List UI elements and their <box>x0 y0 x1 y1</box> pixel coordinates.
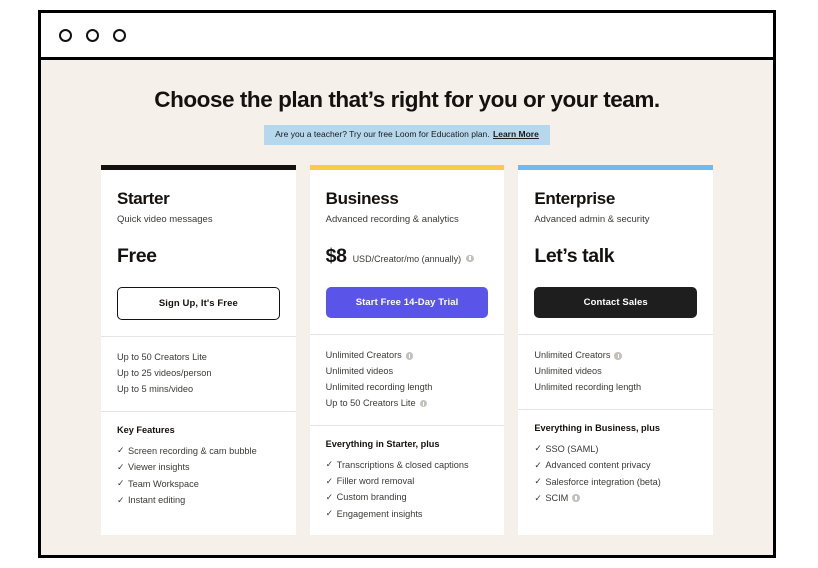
features-heading-starter: Key Features <box>117 425 280 436</box>
check-icon: ✓ <box>117 479 128 488</box>
feature-item: ✓Salesforce integration (beta) <box>534 474 697 490</box>
feature-item-label: SCIM <box>545 490 568 506</box>
plan-limits-starter: Up to 50 Creators LiteUp to 25 videos/pe… <box>101 336 296 410</box>
feature-item-label: Filler word removal <box>337 473 415 489</box>
limit-item: Up to 25 videos/person <box>117 366 280 382</box>
plan-cta-button-business[interactable]: Start Free 14-Day Trial <box>326 287 489 318</box>
feature-item: ✓SSO (SAML) <box>534 441 697 457</box>
plan-header-enterprise: EnterpriseAdvanced admin & securityLet’s… <box>518 170 713 334</box>
feature-item: ✓Custom branding <box>326 489 489 505</box>
feature-item-label: Instant editing <box>128 492 185 508</box>
check-icon: ✓ <box>117 463 128 472</box>
feature-item-label: SSO (SAML) <box>545 441 598 457</box>
feature-item-label: Advanced content privacy <box>545 457 650 473</box>
feature-item: ✓Filler word removal <box>326 473 489 489</box>
window-maximize-dot[interactable] <box>113 29 126 42</box>
limit-item-label: Unlimited videos <box>534 364 601 380</box>
plan-price-starter: Free <box>117 246 157 267</box>
check-icon: ✓ <box>117 496 128 505</box>
check-icon: ✓ <box>534 444 545 453</box>
plan-name-enterprise: Enterprise <box>534 189 697 209</box>
feature-item: ✓Viewer insights <box>117 459 280 475</box>
limit-item: Unlimited videos <box>326 364 489 380</box>
feature-item: ✓Instant editing <box>117 492 280 508</box>
info-icon[interactable] <box>406 352 414 360</box>
plan-header-starter: StarterQuick video messagesFreeSign Up, … <box>101 170 296 336</box>
promo-banner-text: Are you a teacher? Try our free Loom for… <box>275 129 490 139</box>
check-icon: ✓ <box>326 509 337 518</box>
check-icon: ✓ <box>117 446 128 455</box>
feature-item-label: Screen recording & cam bubble <box>128 443 257 459</box>
promo-learn-more-link[interactable]: Learn More <box>493 129 539 139</box>
check-icon: ✓ <box>326 460 337 469</box>
browser-window: Choose the plan that’s right for you or … <box>38 10 776 558</box>
plan-card-enterprise: EnterpriseAdvanced admin & securityLet’s… <box>518 165 713 535</box>
plan-card-starter: StarterQuick video messagesFreeSign Up, … <box>101 165 296 535</box>
plan-price-row-enterprise: Let’s talk <box>534 246 697 270</box>
feature-item-label: Transcriptions & closed captions <box>337 457 469 473</box>
plan-price-business: $8 <box>326 246 347 267</box>
feature-item: ✓Team Workspace <box>117 476 280 492</box>
feature-item-label: Salesforce integration (beta) <box>545 474 660 490</box>
limit-item: Unlimited videos <box>534 364 697 380</box>
feature-item: ✓Engagement insights <box>326 506 489 522</box>
features-heading-enterprise: Everything in Business, plus <box>534 423 697 434</box>
window-close-dot[interactable] <box>59 29 72 42</box>
plan-cta-button-starter[interactable]: Sign Up, It's Free <box>117 287 280 320</box>
window-chrome-bar <box>41 13 773 60</box>
plan-name-starter: Starter <box>117 189 280 209</box>
limit-item: Up to 50 Creators Lite <box>117 350 280 366</box>
limit-item: Unlimited Creators <box>534 348 697 364</box>
limit-item-label: Up to 25 videos/person <box>117 366 212 382</box>
plan-cta-button-enterprise[interactable]: Contact Sales <box>534 287 697 318</box>
feature-item-label: Engagement insights <box>337 506 423 522</box>
check-icon: ✓ <box>534 494 545 503</box>
info-icon[interactable] <box>572 494 580 502</box>
feature-item-label: Team Workspace <box>128 476 199 492</box>
page-title: Choose the plan that’s right for you or … <box>61 86 753 113</box>
plan-card-business: BusinessAdvanced recording & analytics$8… <box>310 165 505 535</box>
limit-item-label: Unlimited videos <box>326 364 393 380</box>
feature-item-label: Custom branding <box>337 489 407 505</box>
plan-features-business: Everything in Starter, plus✓Transcriptio… <box>310 425 505 536</box>
limit-item-label: Up to 5 mins/video <box>117 382 193 398</box>
plan-features-enterprise: Everything in Business, plus✓SSO (SAML)✓… <box>518 409 713 535</box>
promo-banner-container: Are you a teacher? Try our free Loom for… <box>61 125 753 145</box>
pricing-plans-row: StarterQuick video messagesFreeSign Up, … <box>61 165 753 535</box>
limit-item: Unlimited recording length <box>534 380 697 396</box>
info-icon[interactable] <box>614 352 622 360</box>
features-heading-business: Everything in Starter, plus <box>326 439 489 450</box>
info-icon[interactable] <box>466 255 474 263</box>
feature-item: ✓Advanced content privacy <box>534 457 697 473</box>
check-icon: ✓ <box>326 493 337 502</box>
limit-item-label: Unlimited Creators <box>534 348 610 364</box>
plan-name-business: Business <box>326 189 489 209</box>
limit-item-label: Unlimited Creators <box>326 348 402 364</box>
plan-price-enterprise: Let’s talk <box>534 246 614 267</box>
feature-item: ✓Screen recording & cam bubble <box>117 443 280 459</box>
limit-item: Up to 50 Creators Lite <box>326 396 489 412</box>
limit-item-label: Up to 50 Creators Lite <box>117 350 207 366</box>
plan-header-business: BusinessAdvanced recording & analytics$8… <box>310 170 505 334</box>
window-minimize-dot[interactable] <box>86 29 99 42</box>
limit-item: Unlimited recording length <box>326 380 489 396</box>
feature-item-label: Viewer insights <box>128 459 190 475</box>
plan-price-note-business: USD/Creator/mo (annually) <box>353 255 462 265</box>
plan-limits-business: Unlimited CreatorsUnlimited videosUnlimi… <box>310 334 505 424</box>
plan-features-starter: Key Features✓Screen recording & cam bubb… <box>101 411 296 535</box>
info-icon[interactable] <box>420 400 428 408</box>
limit-item: Unlimited Creators <box>326 348 489 364</box>
plan-price-row-starter: Free <box>117 246 280 270</box>
education-promo-banner: Are you a teacher? Try our free Loom for… <box>264 125 550 145</box>
check-icon: ✓ <box>326 477 337 486</box>
limit-item-label: Unlimited recording length <box>534 380 641 396</box>
plan-tagline-business: Advanced recording & analytics <box>326 214 489 225</box>
plan-price-row-business: $8USD/Creator/mo (annually) <box>326 246 489 270</box>
limit-item: Up to 5 mins/video <box>117 382 280 398</box>
feature-item: ✓SCIM <box>534 490 697 506</box>
check-icon: ✓ <box>534 477 545 486</box>
limit-item-label: Unlimited recording length <box>326 380 433 396</box>
limit-item-label: Up to 50 Creators Lite <box>326 396 416 412</box>
check-icon: ✓ <box>534 461 545 470</box>
plan-tagline-enterprise: Advanced admin & security <box>534 214 697 225</box>
plan-limits-enterprise: Unlimited CreatorsUnlimited videosUnlimi… <box>518 334 713 408</box>
plan-tagline-starter: Quick video messages <box>117 214 280 225</box>
feature-item: ✓Transcriptions & closed captions <box>326 457 489 473</box>
pricing-page-body: Choose the plan that’s right for you or … <box>41 86 773 558</box>
